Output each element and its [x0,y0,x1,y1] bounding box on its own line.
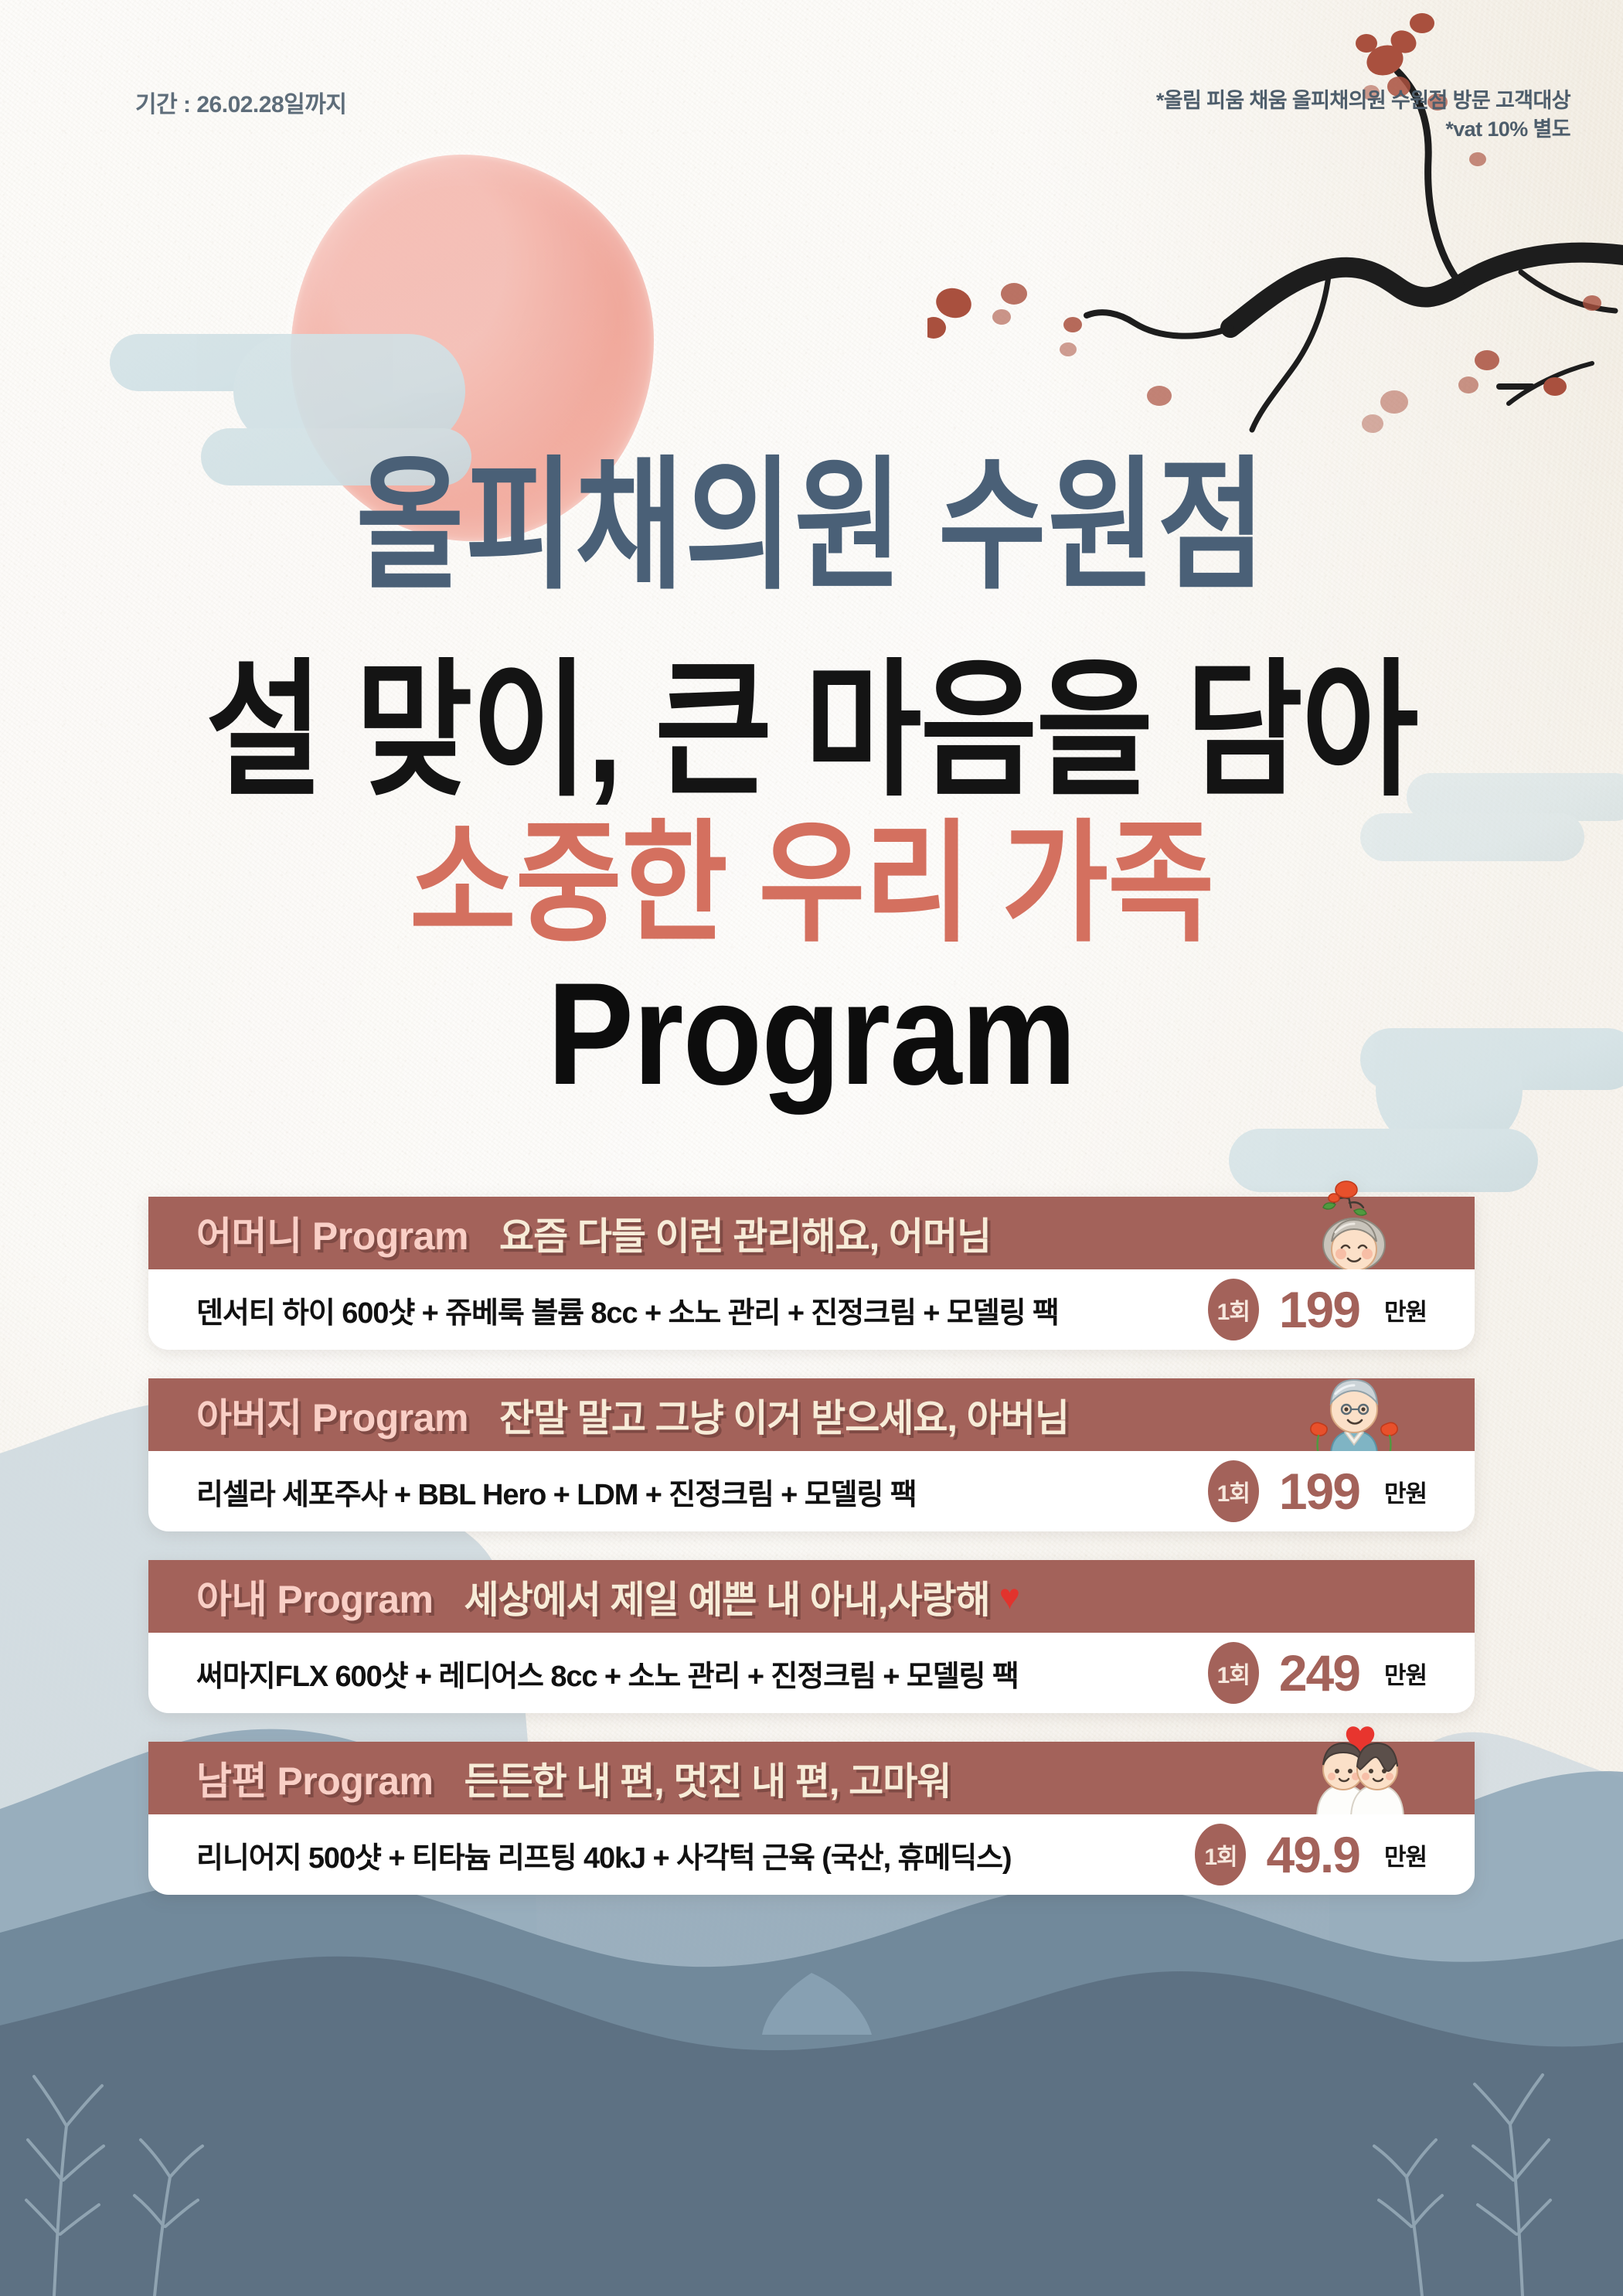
disclaimer-line-1: *올림 피움 채움 올피채의원 수원점 방문 고객대상 [1156,87,1570,115]
program-subtitle: 든든한 내 편, 멋진 내 편, 고마워 [464,1751,951,1806]
program-card-header: 남편 Program 든든한 내 편, 멋진 내 편, 고마워 [148,1742,1475,1814]
program-card-header: 아내 Program 세상에서 제일 예쁜 내 아내,사랑해 ♥ [148,1560,1475,1633]
disclaimer-line-2: *vat 10% 별도 [1156,115,1570,144]
grandfather-with-carnation-icon [1308,1358,1400,1456]
program-items: 써마지FLX 600샷 + 레디어스 8cc + 소노 관리 + 진정크림 + … [196,1652,1019,1695]
headline-line-1: 설 맞이, 큰 마음을 담아 [0,657,1623,805]
program-card-body: 리니어지 500샷 + 티타늄 리프팅 40kJ + 사각턱 근육 (국산, 휴… [148,1814,1475,1895]
program-card-header: 아버지 Program 잔말 말고 그냥 이거 받으세요, 아버님 [148,1378,1475,1451]
session-count-badge: 1회 [1195,1824,1246,1886]
session-count-badge: 1회 [1208,1460,1259,1522]
plum-blossom-branch-icon [927,0,1623,433]
program-card-header: 어머니 Program 요즘 다들 이런 관리해요, 어머님 [148,1197,1475,1269]
program-price: 199 [1279,1284,1359,1335]
program-subtitle: 요즘 다들 이런 관리해요, 어머님 [499,1206,991,1261]
price-unit: 만원 [1384,1474,1427,1509]
program-card-body: 리셀라 세포주사 + BBL Hero + LDM + 진정크림 + 모델링 팩… [148,1451,1475,1531]
clinic-name-title: 올피채의원 수원점 [0,455,1623,598]
program-items: 리셀라 세포주사 + BBL Hero + LDM + 진정크림 + 모델링 팩 [196,1470,917,1513]
program-card-body: 써마지FLX 600샷 + 레디어스 8cc + 소노 관리 + 진정크림 + … [148,1633,1475,1713]
grandmother-with-carnation-icon [1308,1177,1400,1274]
program-subtitle: 세상에서 제일 예쁜 내 아내,사랑해 [464,1569,990,1624]
heart-icon: ♥ [999,1576,1020,1617]
program-card[interactable]: 어머니 Program 요즘 다들 이런 관리해요, 어머님 [148,1197,1475,1350]
program-price: 249 [1279,1647,1359,1698]
price-unit: 만원 [1384,1293,1427,1327]
program-card[interactable]: 아버지 Program 잔말 말고 그냥 이거 받으세요, 아버님 [148,1378,1475,1531]
program-card[interactable]: 아내 Program 세상에서 제일 예쁜 내 아내,사랑해 ♥ 써마지FLX … [148,1560,1475,1713]
couple-with-heart-icon [1306,1722,1414,1819]
price-group: 1회 49.9 만원 [1195,1824,1427,1886]
headline-block: 설 맞이, 큰 마음을 담아 소중한 우리 가족 Program [0,657,1623,1091]
program-title: 아내 Program [196,1569,434,1624]
program-title: 어머니 Program [196,1205,468,1261]
headline-line-2: 소중한 우리 가족 [0,817,1623,949]
promo-poster: 기간 : 26.02.28일까지 *올림 피움 채움 올피채의원 수원점 방문 … [0,0,1623,2296]
program-title: 아버지 Program [196,1387,468,1443]
program-title: 남편 Program [196,1750,434,1806]
program-items: 덴서티 하이 600샷 + 쥬베룩 볼륨 8cc + 소노 관리 + 진정크림 … [196,1289,1059,1331]
session-count-badge: 1회 [1208,1642,1259,1704]
price-group: 1회 199 만원 [1208,1460,1427,1522]
price-unit: 만원 [1384,1656,1427,1691]
price-unit: 만원 [1384,1838,1427,1872]
program-card[interactable]: 남편 Program 든든한 내 편, 멋진 내 편, 고마워 [148,1742,1475,1895]
program-price: 49.9 [1266,1829,1359,1880]
program-price: 199 [1279,1466,1359,1517]
price-group: 1회 249 만원 [1208,1642,1427,1704]
disclaimer-block: *올림 피움 채움 올피채의원 수원점 방문 고객대상 *vat 10% 별도 [1156,87,1570,145]
session-count-badge: 1회 [1208,1279,1259,1340]
program-card-body: 덴서티 하이 600샷 + 쥬베룩 볼륨 8cc + 소노 관리 + 진정크림 … [148,1269,1475,1350]
program-card-list: 어머니 Program 요즘 다들 이런 관리해요, 어머님 [148,1197,1475,1923]
program-subtitle: 잔말 말고 그냥 이거 받으세요, 아버님 [499,1388,1069,1443]
price-group: 1회 199 만원 [1208,1279,1427,1340]
period-label: 기간 : 26.02.28일까지 [135,85,346,119]
headline-line-3: Program [0,961,1623,1106]
program-items: 리니어지 500샷 + 티타늄 리프팅 40kJ + 사각턱 근육 (국산, 휴… [196,1834,1011,1876]
